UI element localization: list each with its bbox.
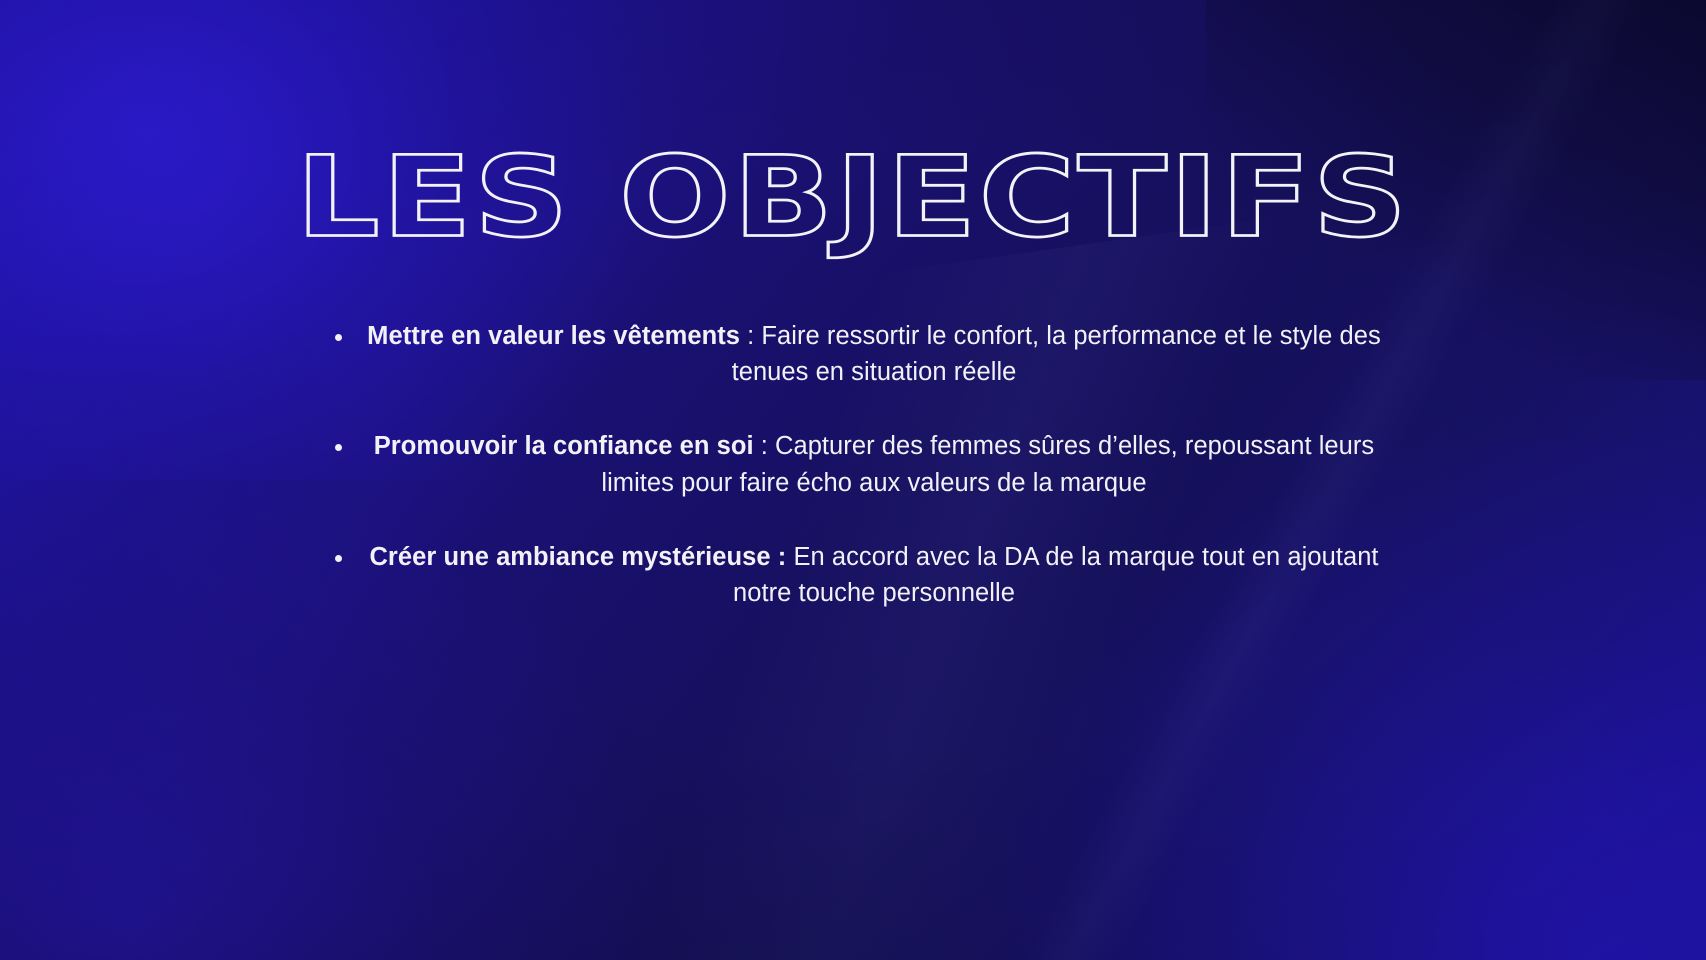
list-item: Promouvoir la confiance en soi : Capture… [323,428,1383,500]
objective-rest: En accord avec la DA de la marque tout e… [733,543,1379,607]
title-container: LES OBJECTIFS [0,74,1706,319]
objectives-list: Mettre en valeur les vêtements : Faire r… [323,318,1383,611]
slide-canvas: LES OBJECTIFS Mettre en valeur les vêtem… [0,0,1706,960]
objectives-content: Mettre en valeur les vêtements : Faire r… [0,318,1706,611]
bullet-dot-icon [335,555,342,562]
objective-lead: Mettre en valeur les vêtements [367,322,740,350]
page-title: LES OBJECTIFS [296,140,1410,254]
list-item: Créer une ambiance mystérieuse : En acco… [323,539,1383,611]
objective-lead: Créer une ambiance mystérieuse : [369,543,786,571]
bullet-dot-icon [335,334,342,341]
objective-rest: : Faire ressortir le confort, la perform… [732,322,1381,386]
list-item: Mettre en valeur les vêtements : Faire r… [323,318,1383,390]
bullet-dot-icon [335,444,342,451]
objective-lead: Promouvoir la confiance en soi [374,432,754,460]
